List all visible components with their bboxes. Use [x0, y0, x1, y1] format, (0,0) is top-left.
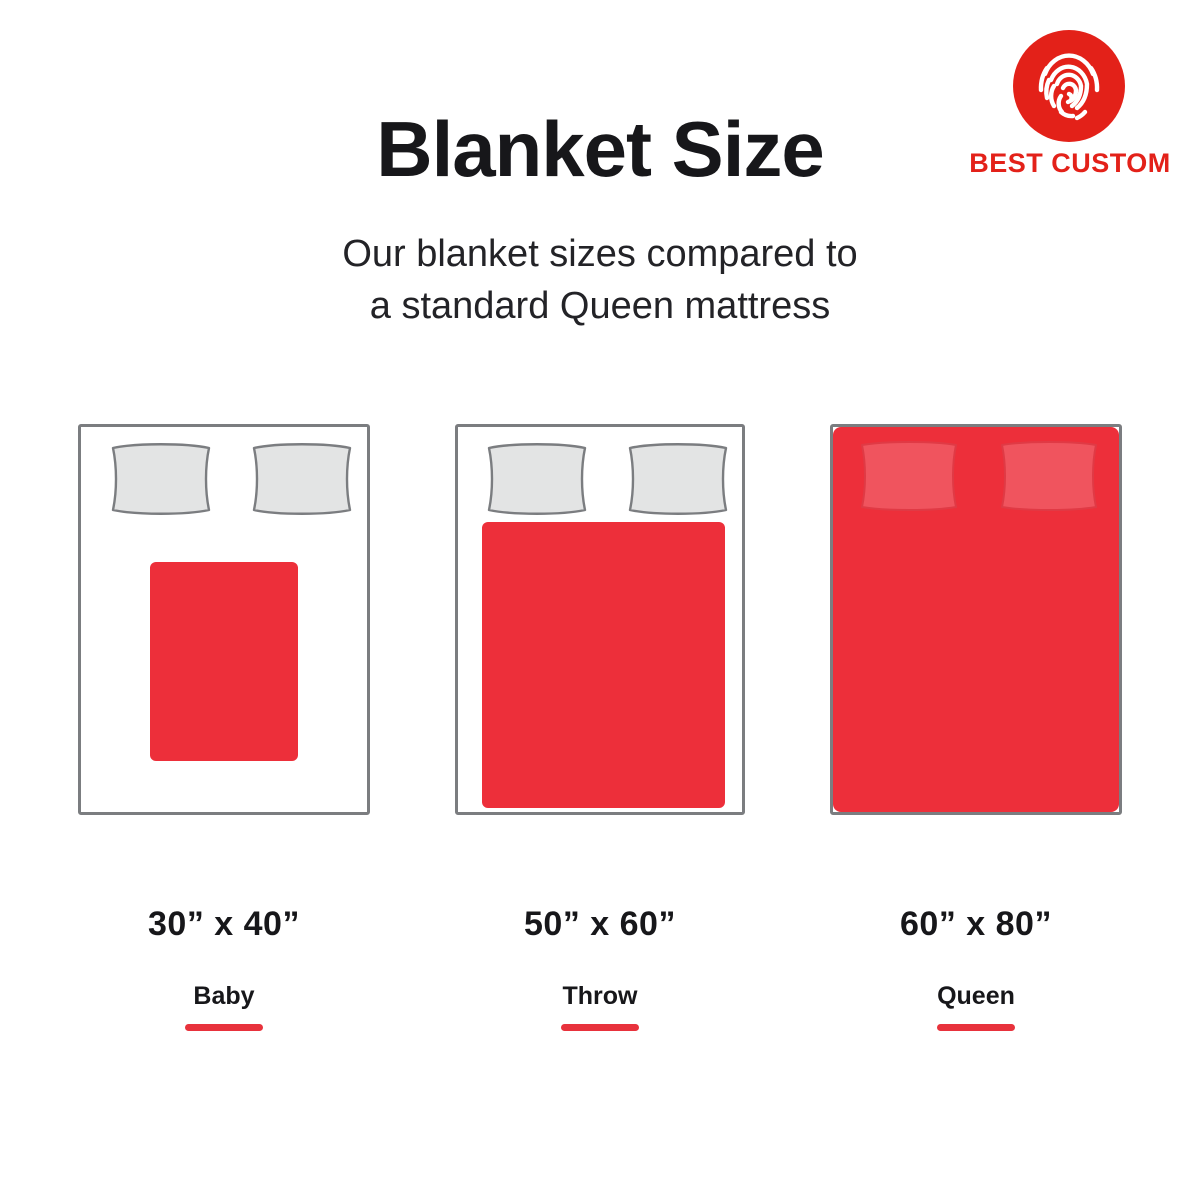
dimension-label-queen: 60” x 80” [826, 905, 1126, 944]
page-subtitle: Our blanket sizes compared to a standard… [0, 228, 1200, 332]
subtitle-line-1: Our blanket sizes compared to [0, 228, 1200, 280]
bed-surface-queen [833, 427, 1119, 812]
pillow-right-baby [247, 442, 357, 516]
pillow-right-queen [997, 440, 1101, 512]
bed-surface-baby [81, 427, 367, 812]
caption-queen: 60” x 80” Queen [826, 905, 1126, 1031]
dimension-label-baby: 30” x 40” [74, 905, 374, 944]
size-name-queen: Queen [826, 982, 1126, 1011]
bed-diagram-throw [455, 424, 745, 815]
infographic-canvas: BEST CUSTOM Blanket Size Our blanket siz… [0, 0, 1200, 1200]
subtitle-line-2: a standard Queen mattress [0, 280, 1200, 332]
bed-diagram-queen [830, 424, 1122, 815]
underline-rule-baby [185, 1024, 263, 1031]
dimension-label-throw: 50” x 60” [450, 905, 750, 944]
size-name-throw: Throw [450, 982, 750, 1011]
caption-throw: 50” x 60” Throw [450, 905, 750, 1031]
pillow-left-baby [106, 442, 216, 516]
underline-rule-queen [937, 1024, 1015, 1031]
caption-baby: 30” x 40” Baby [74, 905, 374, 1031]
bed-surface-throw [458, 427, 742, 812]
blanket-throw [482, 522, 725, 808]
pillow-left-throw [482, 442, 592, 516]
underline-rule-throw [561, 1024, 639, 1031]
blanket-baby [150, 562, 298, 761]
bed-diagram-baby [78, 424, 370, 815]
size-name-baby: Baby [74, 982, 374, 1011]
pillow-right-throw [623, 442, 733, 516]
page-title: Blanket Size [0, 104, 1200, 195]
pillow-left-queen [857, 440, 961, 512]
